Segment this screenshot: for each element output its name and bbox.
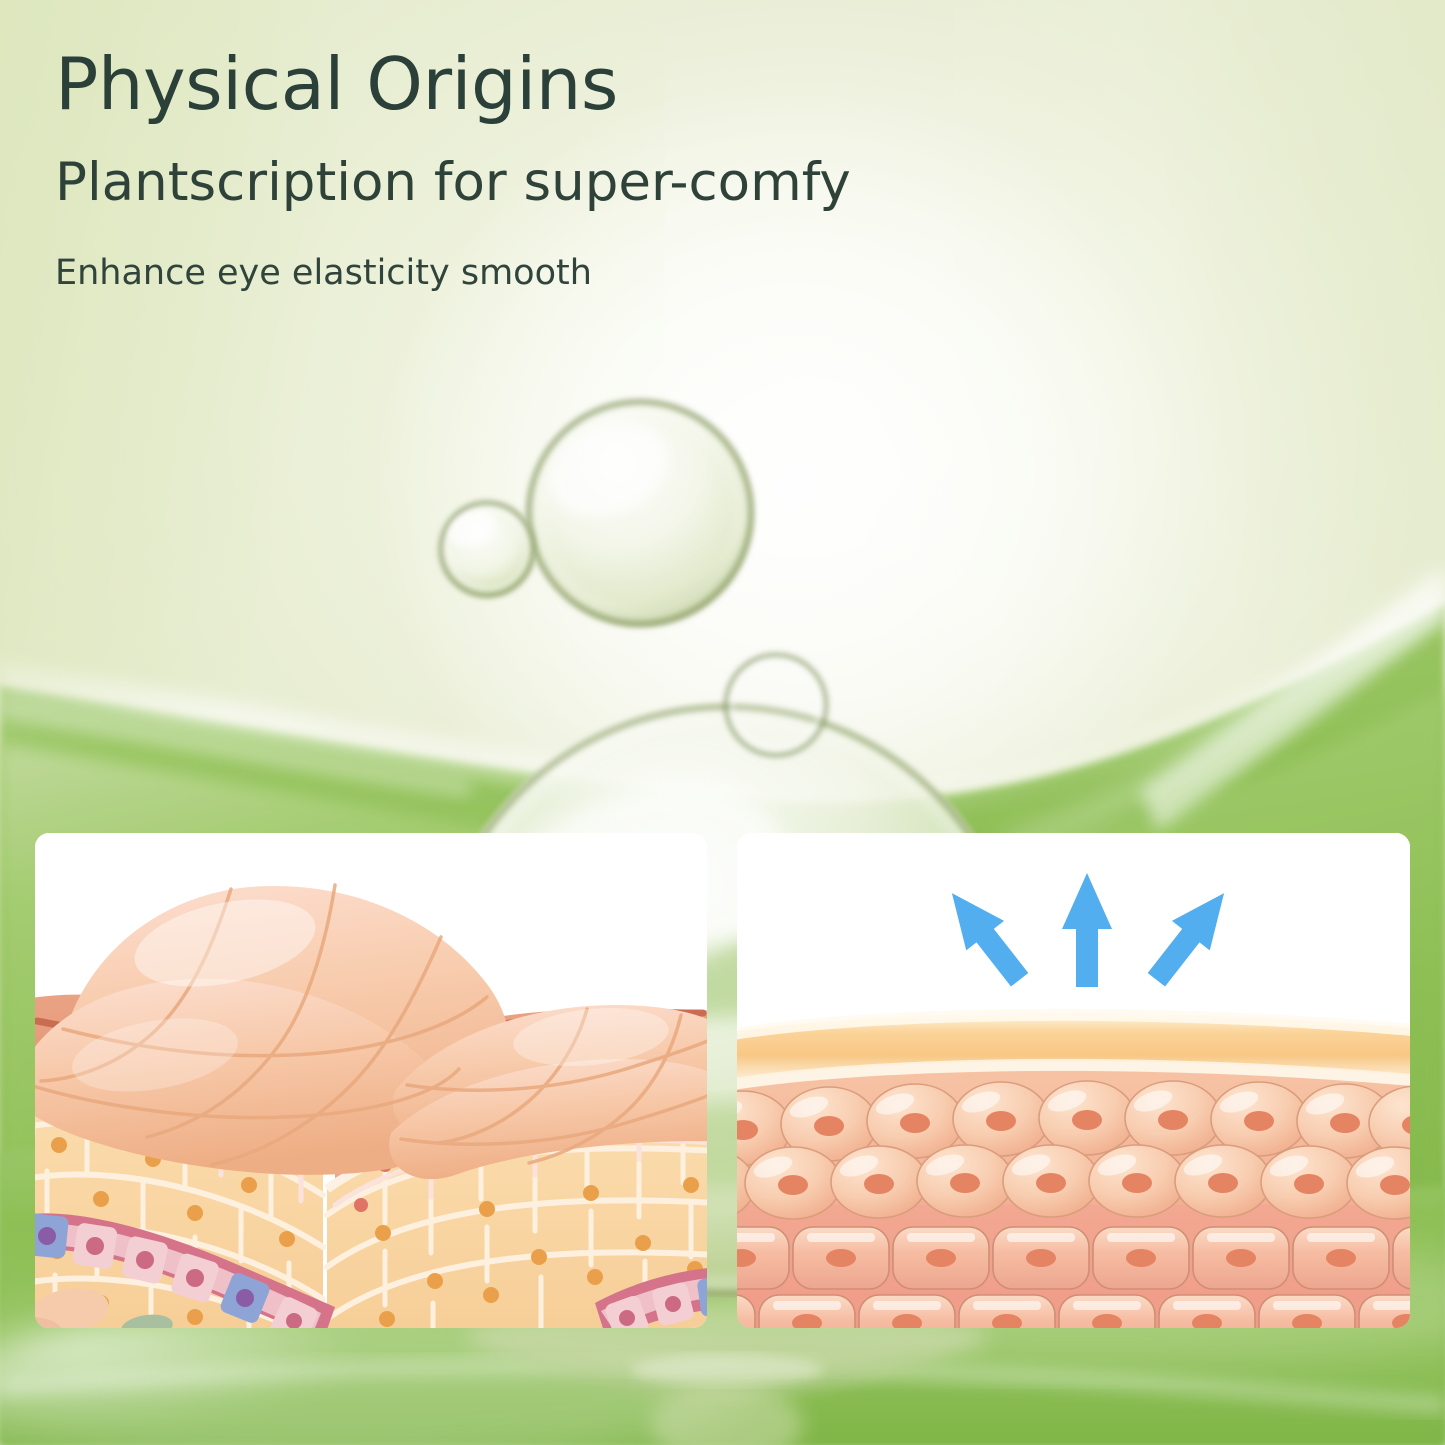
cell-row-rect-1 xyxy=(737,1227,1410,1289)
panel-skin-cross-section[interactable] xyxy=(35,833,707,1328)
header-block: Physical Origins Plantscription for supe… xyxy=(55,46,851,293)
page-tagline: Enhance eye elasticity smooth xyxy=(55,254,851,293)
skin-cell-lift-illustration xyxy=(737,833,1410,1328)
product-infographic-poster: Physical Origins Plantscription for supe… xyxy=(0,0,1445,1445)
page-title: Physical Origins xyxy=(55,46,851,124)
page-subtitle: Plantscription for super-comfy xyxy=(55,154,851,212)
skin-cross-section-illustration xyxy=(35,833,707,1328)
cell-row-rect-2 xyxy=(737,1295,1410,1328)
panel-skin-cell-lift[interactable] xyxy=(737,833,1410,1328)
background-tint-right xyxy=(954,0,1445,867)
